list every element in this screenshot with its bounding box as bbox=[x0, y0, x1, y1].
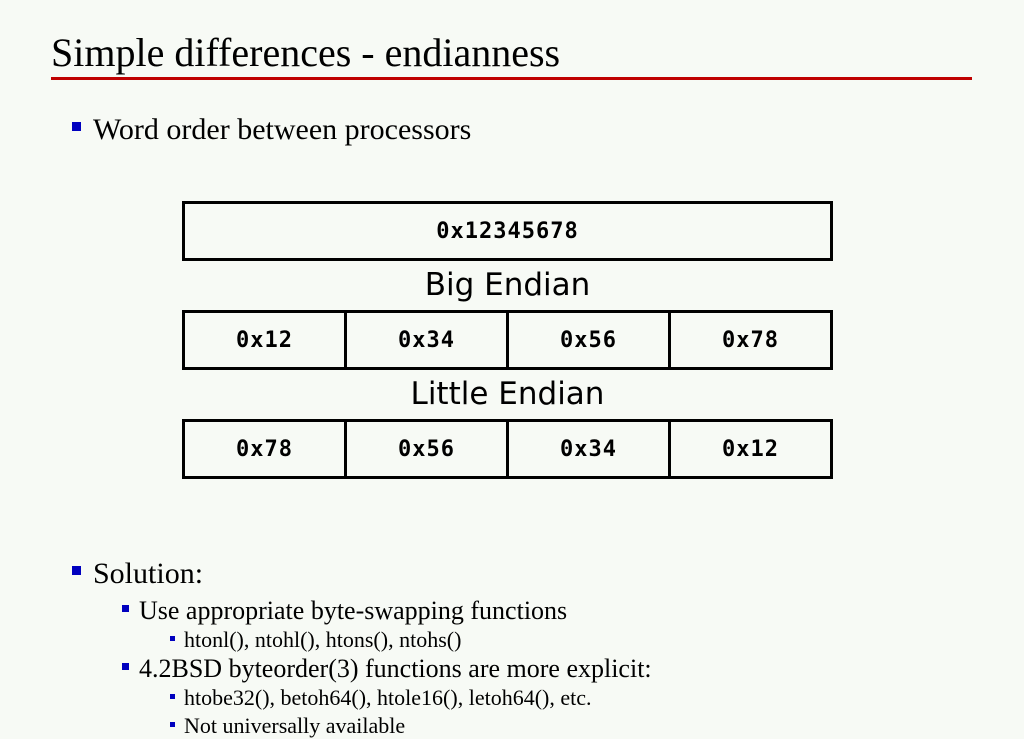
square-bullet-icon bbox=[170, 636, 175, 641]
byte-cell: 0x56 bbox=[347, 422, 509, 476]
big-endian-label: Big Endian bbox=[182, 261, 833, 310]
bullet-htobe32-family: htobe32(), betoh64(), htole16(), letoh64… bbox=[170, 685, 591, 711]
byte-cell: 0x12 bbox=[671, 422, 830, 476]
byte-value-text: 0x34 bbox=[560, 437, 617, 462]
square-bullet-icon bbox=[122, 663, 129, 670]
bullet-htobe32-family-label: htobe32(), betoh64(), htole16(), letoh64… bbox=[184, 685, 591, 711]
square-bullet-icon bbox=[72, 122, 81, 131]
square-bullet-icon bbox=[72, 566, 81, 575]
byte-value-text: 0x56 bbox=[560, 328, 617, 353]
byte-cell: 0x34 bbox=[509, 422, 671, 476]
bullet-not-universally-available: Not universally available bbox=[170, 713, 405, 739]
big-endian-byte-row: 0x12 0x34 0x56 0x78 bbox=[182, 310, 833, 370]
bullet-htonl-family-label: htonl(), ntohl(), htons(), ntohs() bbox=[184, 627, 461, 653]
square-bullet-icon bbox=[122, 605, 129, 612]
word-value-box: 0x12345678 bbox=[182, 201, 833, 261]
page-title: Simple differences - endianness bbox=[51, 29, 560, 77]
byte-cell: 0x78 bbox=[671, 313, 830, 367]
square-bullet-icon bbox=[170, 722, 175, 727]
little-endian-byte-row: 0x78 0x56 0x34 0x12 bbox=[182, 419, 833, 479]
byte-cell: 0x34 bbox=[347, 313, 509, 367]
byte-value-text: 0x12 bbox=[236, 328, 293, 353]
byte-cell: 0x56 bbox=[509, 313, 671, 367]
bullet-byte-swapping: Use appropriate byte-swapping functions bbox=[122, 596, 567, 626]
byte-cell: 0x12 bbox=[185, 313, 347, 367]
bullet-not-universally-available-label: Not universally available bbox=[184, 713, 405, 739]
title-underline-rule bbox=[51, 77, 972, 80]
byte-value-text: 0x34 bbox=[398, 328, 455, 353]
byte-value-text: 0x78 bbox=[236, 437, 293, 462]
bullet-solution: Solution: bbox=[72, 556, 203, 592]
bullet-byte-swapping-label: Use appropriate byte-swapping functions bbox=[139, 596, 567, 626]
bullet-htonl-family: htonl(), ntohl(), htons(), ntohs() bbox=[170, 627, 461, 653]
byte-value-text: 0x56 bbox=[398, 437, 455, 462]
bullet-bsd-byteorder-label: 4.2BSD byteorder(3) functions are more e… bbox=[139, 654, 652, 684]
bullet-bsd-byteorder: 4.2BSD byteorder(3) functions are more e… bbox=[122, 654, 652, 684]
byte-cell: 0x78 bbox=[185, 422, 347, 476]
square-bullet-icon bbox=[170, 694, 175, 699]
bullet-solution-label: Solution: bbox=[93, 556, 203, 592]
endianness-diagram: 0x12345678 Big Endian 0x12 0x34 0x56 0x7… bbox=[182, 201, 833, 479]
byte-value-text: 0x78 bbox=[722, 328, 779, 353]
bullet-word-order: Word order between processors bbox=[72, 112, 471, 148]
slide: Simple differences - endianness Word ord… bbox=[0, 0, 1024, 724]
little-endian-label: Little Endian bbox=[182, 370, 833, 419]
bullet-word-order-label: Word order between processors bbox=[93, 112, 471, 148]
word-value-text: 0x12345678 bbox=[436, 219, 578, 244]
byte-value-text: 0x12 bbox=[722, 437, 779, 462]
